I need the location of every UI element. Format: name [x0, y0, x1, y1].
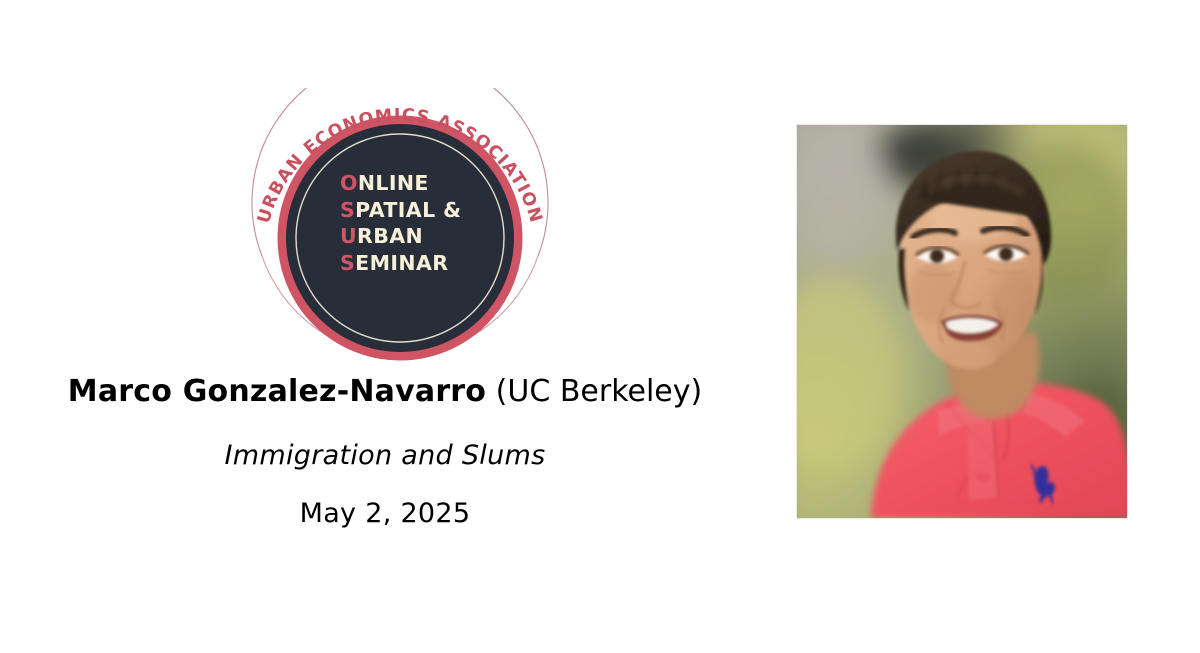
logo-acronym-lead-4: S [340, 251, 355, 275]
speaker-line: Marco Gonzalez-Navarro (UC Berkeley) [60, 372, 710, 412]
photo-eye-right [999, 247, 1013, 261]
seminar-logo: URBAN ECONOMICS ASSOCIATION ONLINE SPATI… [240, 88, 560, 363]
speaker-affiliation: (UC Berkeley) [496, 374, 703, 409]
logo-acronym-rest-3: RBAN [357, 224, 423, 248]
logo-acronym-block: ONLINE SPATIAL & URBAN SEMINAR [340, 170, 530, 276]
logo-acronym-rest-1: NLINE [358, 171, 429, 195]
logo-acronym-lead-1: O [340, 171, 358, 195]
logo-acronym-rest-2: PATIAL & [355, 198, 461, 222]
logo-acronym-lead-3: U [340, 224, 357, 248]
speaker-photo [797, 125, 1127, 518]
logo-acronym-line-2: SPATIAL & [340, 197, 530, 224]
logo-acronym-lead-2: S [340, 198, 355, 222]
presentation-title-slide: URBAN ECONOMICS ASSOCIATION ONLINE SPATI… [0, 0, 1200, 653]
photo-eye-left [930, 249, 944, 263]
speaker-photo-image [797, 125, 1127, 518]
logo-acronym-rest-4: EMINAR [355, 251, 448, 275]
logo-acronym-line-1: ONLINE [340, 170, 530, 197]
logo-acronym-line-3: URBAN [340, 223, 530, 250]
talk-title: Immigration and Slums [60, 438, 710, 474]
logo-acronym-line-4: SEMINAR [340, 250, 530, 277]
title-text-block: Marco Gonzalez-Navarro (UC Berkeley) Imm… [60, 372, 710, 532]
speaker-name: Marco Gonzalez-Navarro [68, 374, 486, 409]
talk-date: May 2, 2025 [60, 496, 710, 532]
